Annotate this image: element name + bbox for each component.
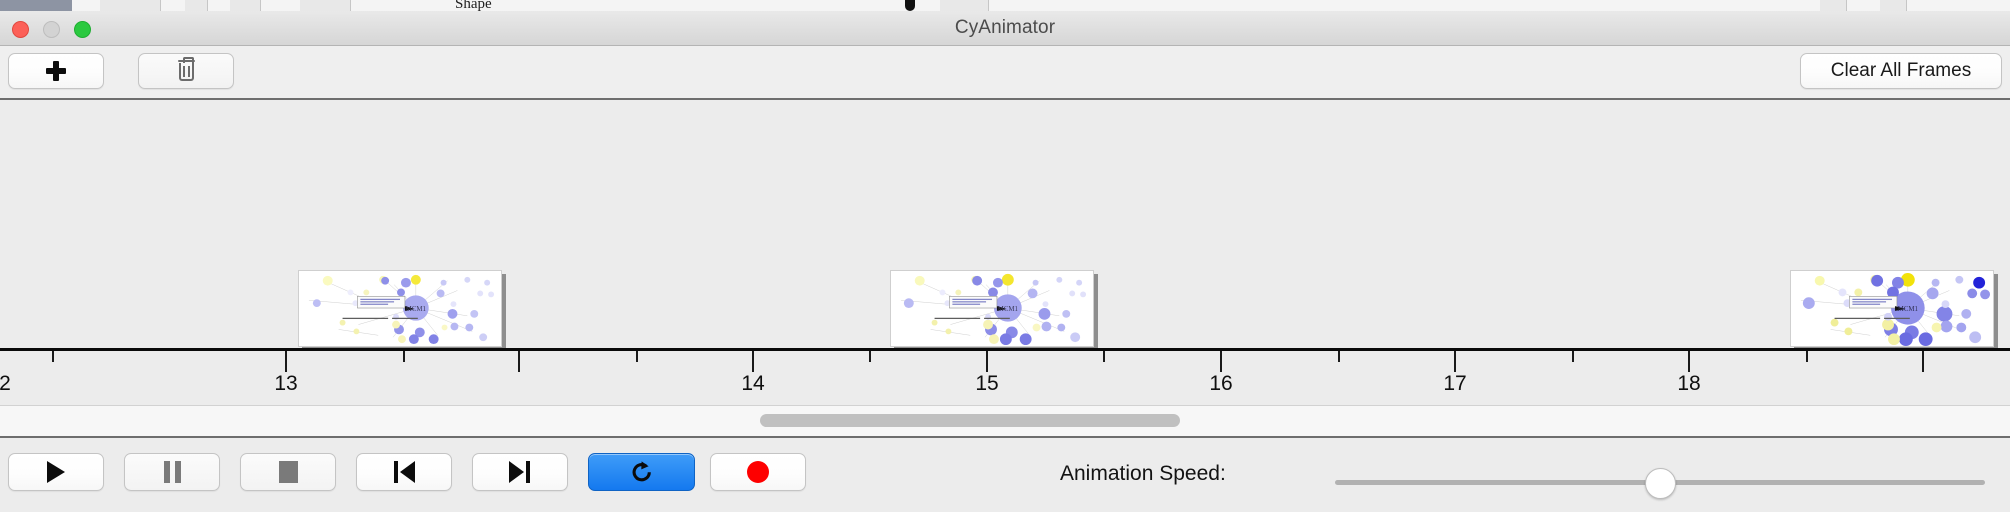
backdrop-cursor-glyph [905, 0, 915, 11]
axis-tick-label: 18 [1677, 372, 1700, 396]
backdrop-chip [300, 0, 351, 11]
axis-tick-major [986, 351, 988, 372]
play-button[interactable] [8, 453, 104, 491]
clear-all-frames-label: Clear All Frames [1831, 60, 1971, 82]
axis-tick-label: 16 [1209, 372, 1232, 396]
backdrop-sidebar [0, 0, 72, 11]
stop-button[interactable] [240, 453, 336, 491]
axis-tick-minor [1572, 351, 1574, 362]
network-graph-icon: MCM1 [1791, 271, 1993, 346]
axis-tick-label: 14 [741, 372, 764, 396]
skip-to-start-icon [393, 461, 415, 483]
timeline-frame-thumbnail[interactable]: MCM1 [298, 270, 502, 347]
svg-text:MCM1: MCM1 [1898, 306, 1919, 313]
axis-tick-major [1688, 351, 1690, 372]
axis-tick-minor [869, 351, 871, 362]
stop-icon [279, 461, 298, 483]
clear-all-frames-button[interactable]: Clear All Frames [1800, 53, 2002, 89]
window-title: CyAnimator [0, 17, 2010, 39]
axis-tick-major [1220, 351, 1222, 372]
backdrop-chip [100, 0, 161, 11]
axis-tick-minor [52, 351, 54, 362]
timeline-panel[interactable]: MCM1 [0, 100, 2010, 405]
timeline-frame-thumbnail[interactable]: MCM1 [890, 270, 1094, 347]
skip-to-start-button[interactable] [356, 453, 452, 491]
axis-tick-minor [1806, 351, 1808, 362]
backdrop-chip [1820, 0, 1847, 11]
axis-tick-label: 13 [274, 372, 297, 396]
svg-text:MCM1: MCM1 [406, 306, 427, 313]
axis-tick-minor [1338, 351, 1340, 362]
network-graph-icon: MCM1 [299, 271, 501, 346]
record-button[interactable] [710, 453, 806, 491]
delete-frame-button[interactable] [138, 53, 234, 89]
axis-tick-major [1922, 351, 1924, 372]
desktop-backdrop: Shape [0, 0, 2010, 11]
backdrop-chip [185, 0, 208, 11]
axis-tick-major [752, 351, 754, 372]
axis-tick-major [285, 351, 287, 372]
axis-tick-minor [1103, 351, 1105, 362]
loop-icon [629, 459, 655, 485]
scrollbar-thumb[interactable] [760, 414, 1180, 427]
skip-to-end-icon [509, 461, 531, 483]
record-icon [747, 461, 769, 483]
axis-tick-minor [636, 351, 638, 362]
trash-icon [177, 60, 196, 82]
loop-toggle-button[interactable] [588, 453, 695, 491]
axis-tick-major [1454, 351, 1456, 372]
pause-button[interactable] [124, 453, 220, 491]
network-graph-icon: MCM1 [891, 271, 1093, 346]
timeline-horizontal-scrollbar[interactable] [0, 405, 2010, 438]
plus-icon [46, 61, 66, 81]
backdrop-chip [940, 0, 989, 11]
skip-to-end-button[interactable] [472, 453, 568, 491]
axis-tick-minor [403, 351, 405, 362]
timeline-axis-line [0, 348, 2010, 351]
axis-tick-label: 2 [0, 372, 11, 396]
axis-tick-major [518, 351, 520, 372]
animation-speed-label: Animation Speed: [1060, 462, 1226, 486]
thumbnail-network-canvas: MCM1 [1790, 270, 1994, 347]
thumbnail-network-canvas: MCM1 [298, 270, 502, 347]
backdrop-chip [230, 0, 261, 11]
play-icon [47, 461, 65, 483]
add-frame-button[interactable] [8, 53, 104, 89]
frame-toolbar: Clear All Frames [0, 46, 2010, 100]
backdrop-chip [1880, 0, 1907, 11]
cyanimator-window: CyAnimator Clear All Frames [0, 11, 2010, 510]
backdrop-window-text: Shape [455, 0, 492, 11]
svg-text:MCM1: MCM1 [998, 306, 1019, 313]
window-titlebar: CyAnimator [0, 11, 2010, 46]
timeline-frame-thumbnail[interactable]: MCM1 [1790, 270, 1994, 347]
axis-tick-label: 15 [975, 372, 998, 396]
animation-speed-slider-thumb[interactable] [1645, 468, 1676, 499]
axis-tick-label: 17 [1443, 372, 1466, 396]
pause-icon [164, 461, 181, 483]
playback-control-bar: Animation Speed: [0, 438, 2010, 512]
thumbnail-network-canvas: MCM1 [890, 270, 1094, 347]
